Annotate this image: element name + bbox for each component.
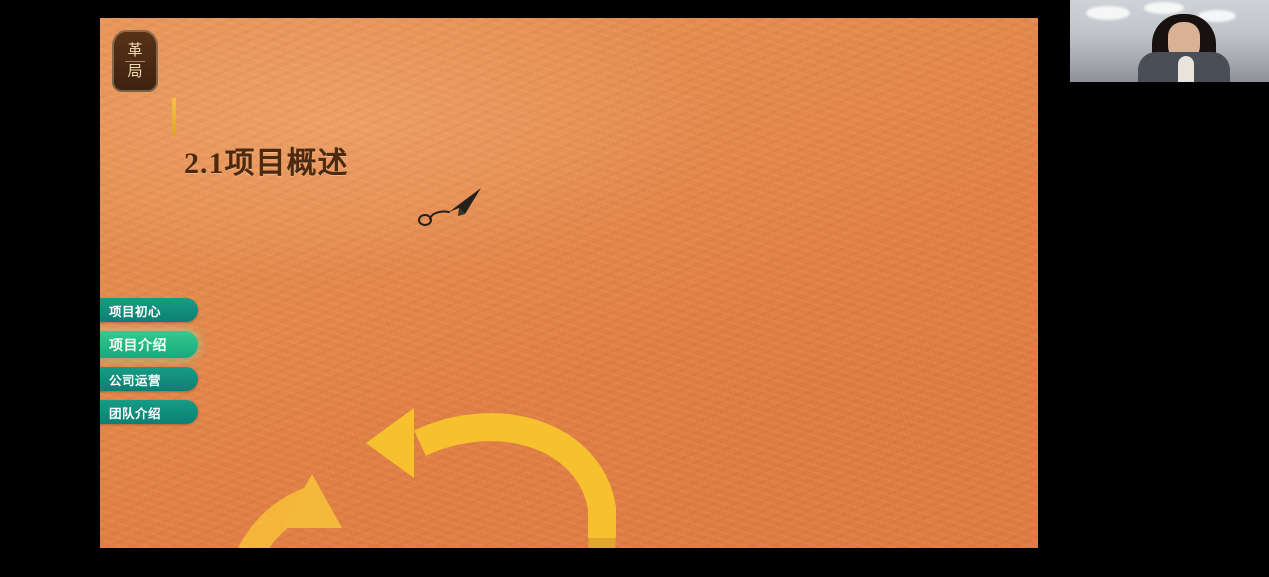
- nav-item-label: 项目介绍: [109, 335, 167, 355]
- nav-item-origin[interactable]: 项目初心: [100, 298, 198, 322]
- ceiling-light-icon: [1144, 2, 1184, 14]
- nav-item-introduction[interactable]: 项目介绍: [100, 331, 198, 358]
- nav-item-label: 项目初心: [109, 301, 161, 320]
- cycle-ring-arrows: [170, 388, 730, 548]
- brand-logo-badge: 革 局: [112, 30, 158, 92]
- paper-plane-icon: [413, 184, 483, 230]
- logo-divider: [125, 61, 145, 62]
- presentation-slide: 革 局 2.1项目概述 项目初心 项目介绍 公司运营 团队介绍: [100, 18, 1038, 548]
- participant-webcam-tile[interactable]: [1070, 0, 1269, 82]
- logo-char-top: 革: [127, 43, 142, 59]
- ceiling-light-icon: [1086, 6, 1130, 20]
- screen-root: 革 局 2.1项目概述 项目初心 项目介绍 公司运营 团队介绍: [0, 0, 1269, 577]
- person-collar: [1178, 56, 1194, 82]
- nav-item-label: 公司运营: [109, 370, 161, 389]
- slide-title: 2.1项目概述: [184, 138, 1038, 182]
- logo-char-bottom: 局: [127, 64, 142, 80]
- title-accent-bar: [172, 98, 176, 136]
- nav-item-label: 团队介绍: [109, 403, 161, 422]
